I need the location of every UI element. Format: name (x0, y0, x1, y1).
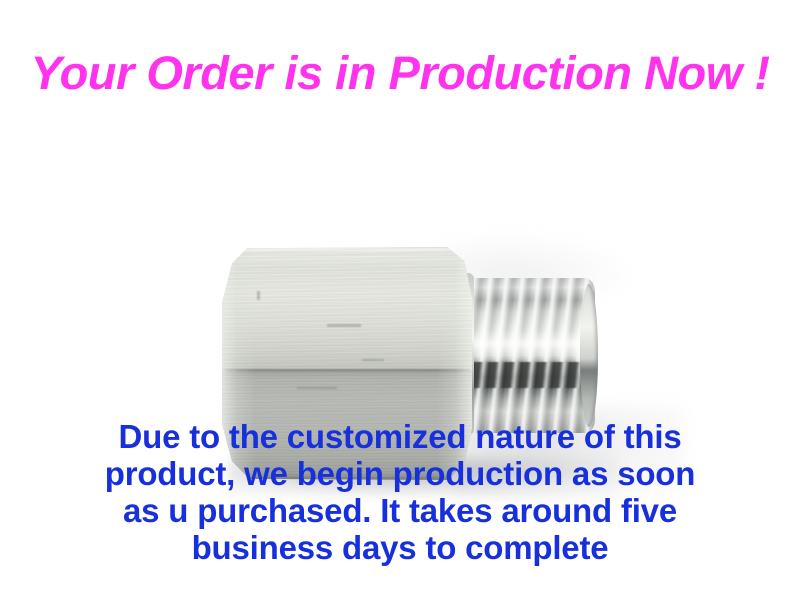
notice-line: as u purchased. It takes around five (0, 492, 800, 529)
thread-end-cap (580, 284, 598, 427)
thread-specular-highlight (455, 330, 595, 360)
surface-mark (362, 359, 384, 361)
thread-body (455, 278, 595, 433)
thread-shadow-valley (457, 362, 591, 388)
production-notice: Due to the customized nature of this pro… (0, 418, 800, 566)
notice-line: business days to complete (0, 529, 800, 566)
product-photo (0, 105, 800, 415)
surface-mark (297, 387, 337, 389)
threaded-nipple (455, 278, 595, 433)
notice-line: Due to the customized nature of this (0, 418, 800, 455)
promo-image-canvas: Your Order is in Production Now ! (0, 0, 800, 600)
surface-mark (257, 291, 260, 300)
notice-line: product, we begin production as soon (0, 455, 800, 492)
page-title: Your Order is in Production Now ! (0, 48, 800, 97)
surface-mark (327, 324, 361, 327)
